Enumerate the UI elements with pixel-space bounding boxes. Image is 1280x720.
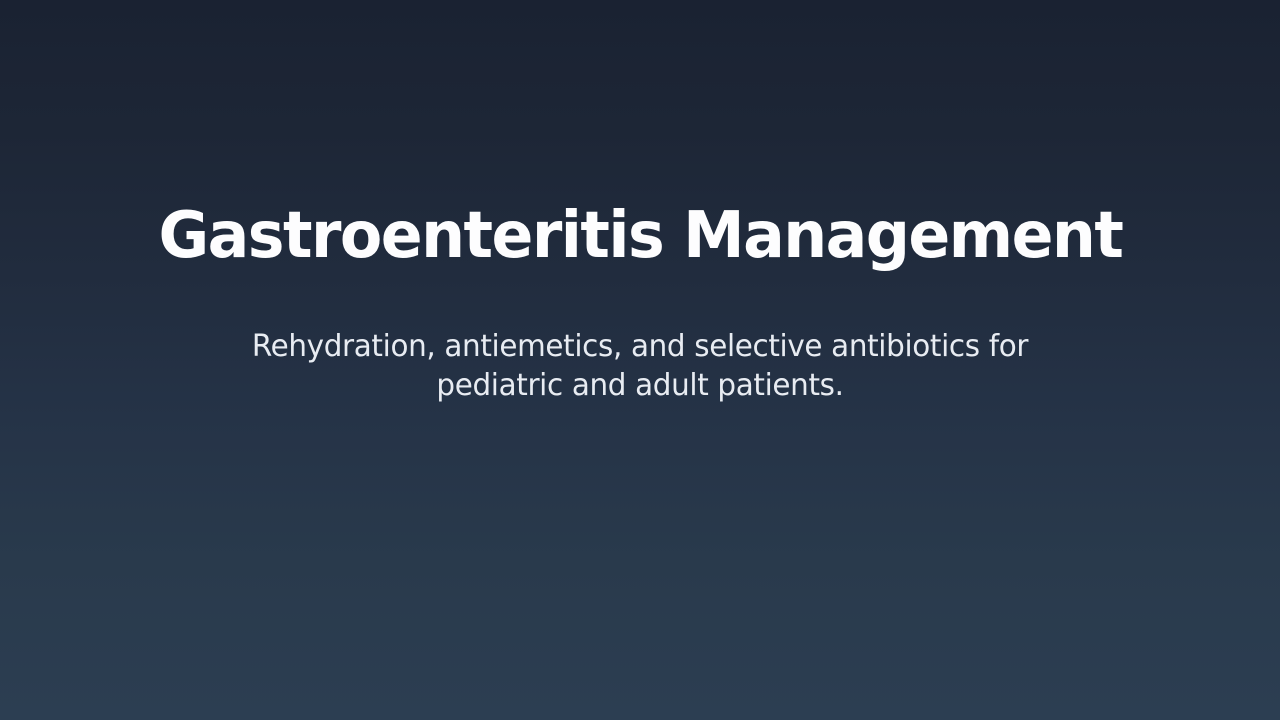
slide-subtitle: Rehydration, antiemetics, and selective … — [242, 327, 1038, 405]
slide-content-block: Gastroenteritis Management Rehydration, … — [96, 203, 1184, 405]
title-slide: Gastroenteritis Management Rehydration, … — [0, 0, 1280, 720]
page-title: Gastroenteritis Management — [158, 203, 1122, 271]
